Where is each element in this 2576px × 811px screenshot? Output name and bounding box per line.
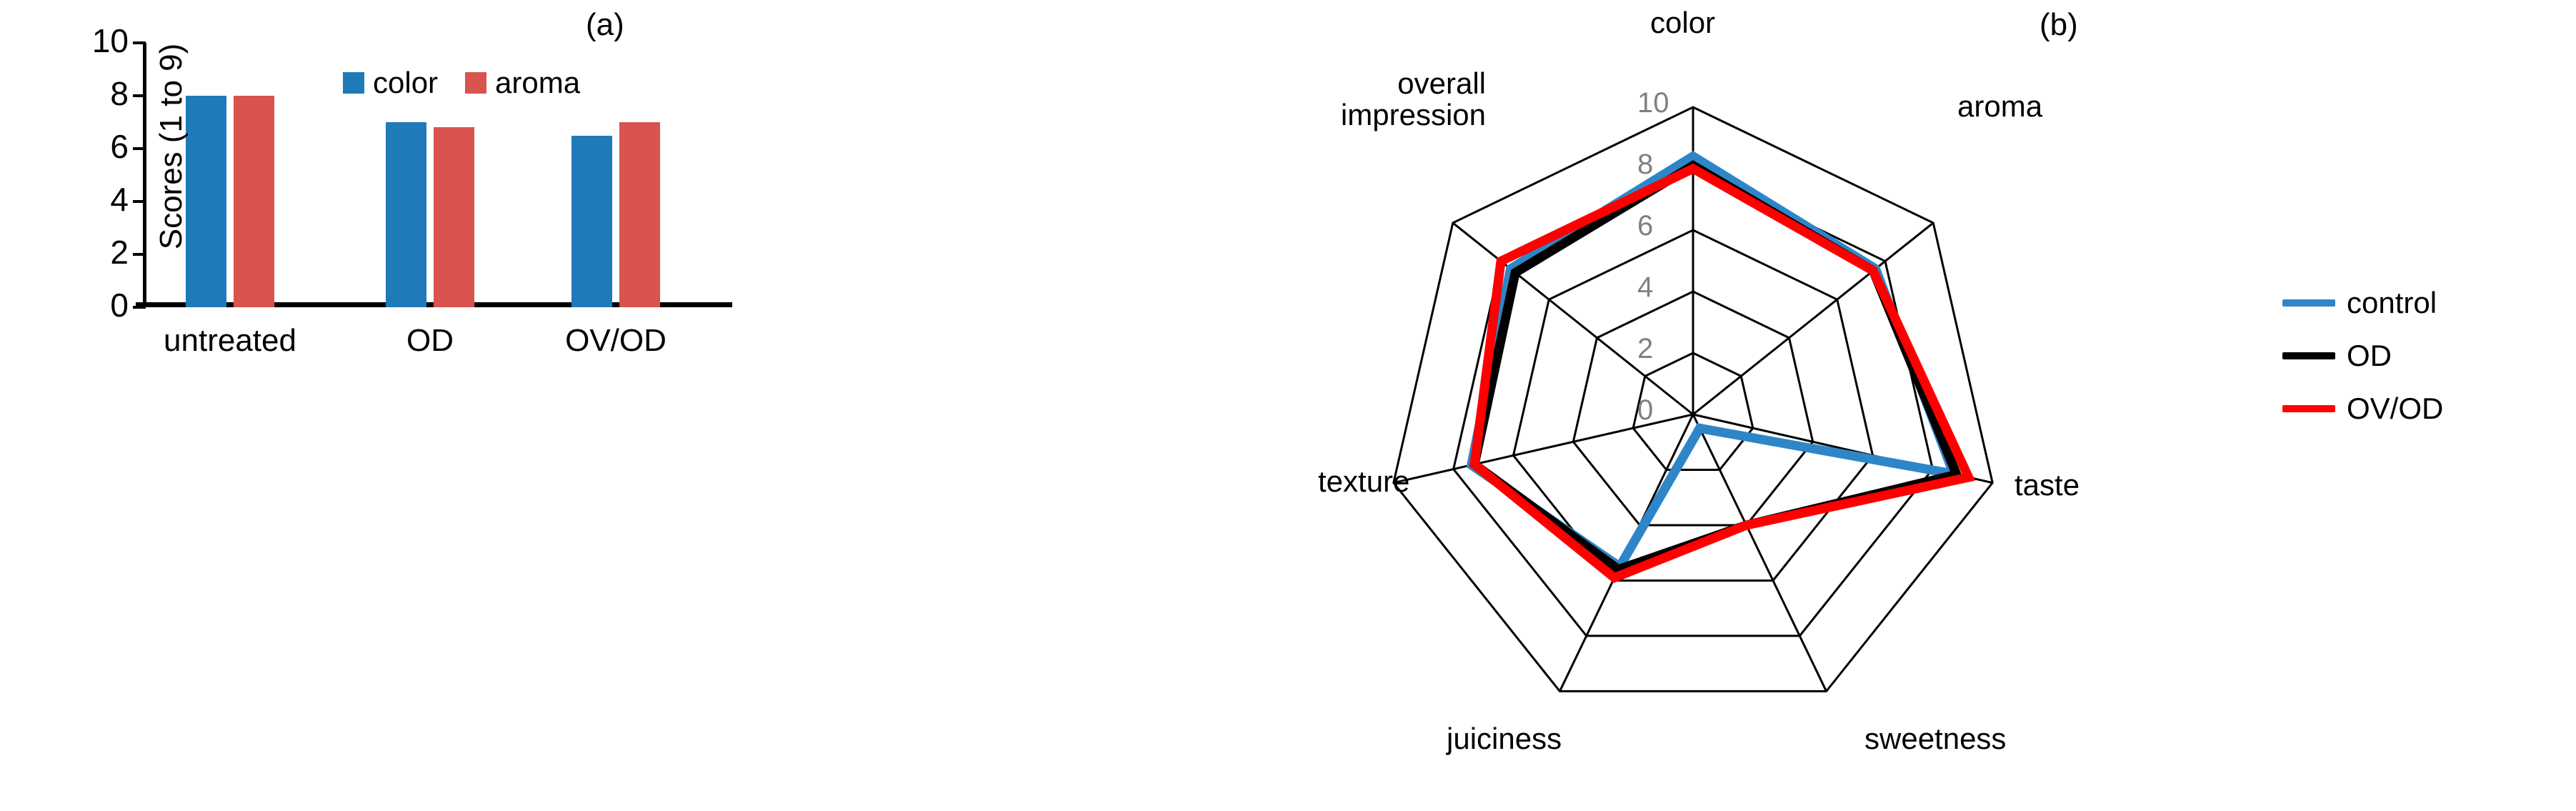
y-tick-label: 6 <box>79 130 129 163</box>
x-category-label: untreated <box>123 323 337 359</box>
y-tick-mark <box>133 147 146 150</box>
bar-untreated-color <box>186 96 226 307</box>
radar-plot-area <box>1322 14 2279 800</box>
radar-label-overall-line1: overall <box>1307 68 1486 99</box>
radar-tick-label: 6 <box>1637 210 1653 242</box>
radar-label-overall-line2: impression <box>1307 99 1486 131</box>
y-tick-mark <box>133 253 146 256</box>
y-tick-label: 10 <box>79 24 129 57</box>
bar-ov-od-color <box>571 136 612 308</box>
legend-item-ovod: OV/OD <box>2282 392 2443 426</box>
y-tick-label: 4 <box>79 183 129 216</box>
radar-chart-legend: control OD OV/OD <box>2282 286 2443 444</box>
panel-b-radar-chart: (b) color aroma taste sweetness juicines… <box>1293 0 2576 811</box>
legend-line-od-icon <box>2282 352 2335 359</box>
radar-label-texture: texture <box>1318 464 1409 499</box>
legend-label-od: OD <box>2347 339 2392 373</box>
radar-tick-label: 8 <box>1637 149 1653 181</box>
y-tick-mark <box>133 306 146 309</box>
panel-a-label: (a) <box>586 7 624 43</box>
radar-label-color: color <box>1650 6 1715 40</box>
bar-untreated-aroma <box>234 96 274 307</box>
radar-label-taste: taste <box>2015 468 2080 502</box>
radar-label-juiciness: juiciness <box>1447 722 1562 756</box>
y-axis-line <box>143 43 146 307</box>
bar-plot-area: 1086420 untreatedODOV/OD Scores (1 to 9) <box>143 43 1229 307</box>
radar-spoke <box>1693 414 1827 691</box>
legend-line-control-icon <box>2282 299 2335 307</box>
legend-label-control: control <box>2347 286 2437 320</box>
legend-item-od: OD <box>2282 339 2443 373</box>
y-tick-label: 0 <box>79 289 129 322</box>
radar-label-aroma: aroma <box>1957 89 2042 124</box>
legend-line-ovod-icon <box>2282 405 2335 412</box>
bar-od-color <box>386 122 426 307</box>
radar-label-sweetness: sweetness <box>1864 722 2006 756</box>
y-tick-mark <box>133 200 146 203</box>
x-category-label: OD <box>323 323 537 359</box>
legend-item-control: control <box>2282 286 2443 320</box>
radar-label-overall-impression: overall impression <box>1307 68 1486 131</box>
y-tick-label: 8 <box>79 77 129 110</box>
bar-od-aroma <box>434 127 474 307</box>
radar-tick-label: 0 <box>1637 394 1653 427</box>
radar-tick-label: 4 <box>1637 272 1653 304</box>
y-tick-mark <box>133 94 146 97</box>
y-tick-mark <box>133 41 146 44</box>
panel-a-bar-chart: (a) color aroma 1086420 untreatedODOV/OD… <box>0 0 1293 811</box>
figure-canvas: (a) color aroma 1086420 untreatedODOV/OD… <box>0 0 2576 811</box>
radar-tick-label: 2 <box>1637 333 1653 365</box>
legend-label-ovod: OV/OD <box>2347 392 2443 426</box>
radar-tick-label: 10 <box>1637 87 1669 119</box>
x-category-label: OV/OD <box>509 323 723 359</box>
y-axis-title: Scores (1 to 9) <box>154 0 189 297</box>
bar-ov-od-aroma <box>619 122 660 307</box>
y-tick-label: 2 <box>79 236 129 269</box>
radar-series-od <box>1474 166 1957 569</box>
